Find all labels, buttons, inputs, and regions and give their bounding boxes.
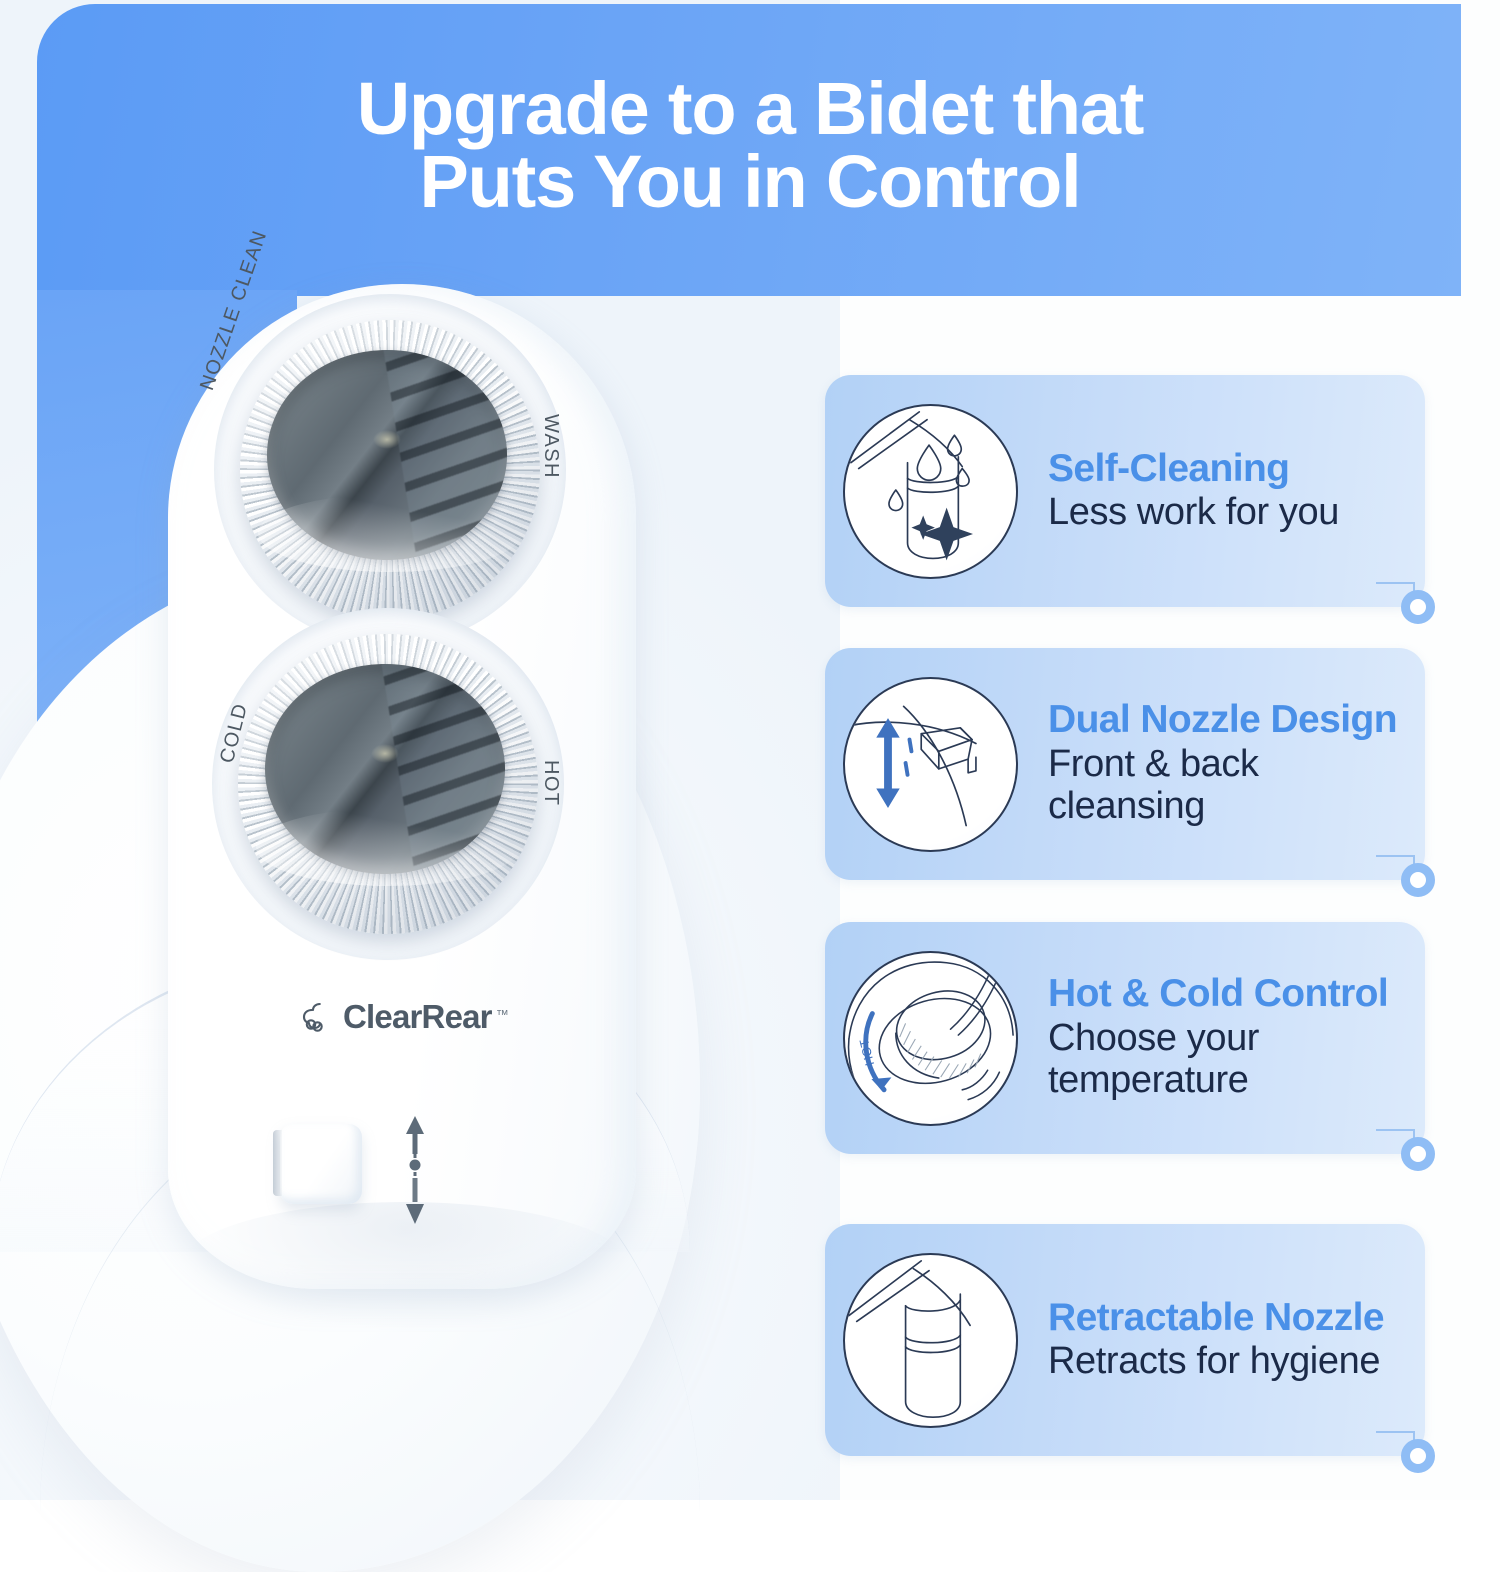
up-down-arrow-icon	[400, 1114, 430, 1226]
card-title: Hot & Cold Control	[1048, 974, 1411, 1014]
knob-chrome-cap	[265, 664, 505, 874]
card-text: Self-Cleaning Less work for you	[1018, 449, 1339, 534]
card-connector-ring	[1401, 1439, 1435, 1473]
marketing-infographic: Upgrade to a Bidet that Puts You in Cont…	[0, 0, 1500, 1500]
knob-label-hot: HOT	[539, 760, 562, 806]
dual-nozzle-double-arrow-icon	[843, 677, 1018, 852]
brand-name: ClearRear	[343, 998, 492, 1036]
feature-card-dual-nozzle[interactable]: Dual Nozzle Design Front & back cleansin…	[825, 648, 1425, 880]
card-title: Self-Cleaning	[1048, 449, 1339, 489]
card-description: Retracts for hygiene	[1048, 1340, 1384, 1383]
rotating-dial-hot-icon: HOT	[843, 951, 1018, 1126]
retracting-nozzle-icon	[843, 1253, 1018, 1428]
card-connector-ring	[1401, 863, 1435, 897]
card-description: Less work for you	[1048, 491, 1339, 534]
bidet-product-photo: NOZZLE CLEAN WASH COLD HOT ClearRear ™	[0, 262, 800, 1500]
brand-logo: ClearRear ™	[300, 997, 509, 1037]
knob-chrome-cap	[267, 350, 507, 560]
svg-text:HOT: HOT	[857, 1037, 877, 1067]
card-description: Front & back cleansing	[1048, 743, 1411, 828]
feature-card-hot-cold-control[interactable]: HOT Hot & Cold Control Choose your tempe…	[825, 922, 1425, 1154]
knob-label-wash: WASH	[539, 414, 562, 479]
brand-trademark: ™	[496, 1007, 509, 1022]
nozzle-water-droplets-sparkle-icon	[843, 404, 1018, 579]
card-text: Hot & Cold Control Choose your temperatu…	[1018, 974, 1411, 1101]
feature-card-retractable-nozzle[interactable]: Retractable Nozzle Retracts for hygiene	[825, 1224, 1425, 1456]
nozzle-position-lever[interactable]	[280, 1124, 362, 1204]
card-text: Dual Nozzle Design Front & back cleansin…	[1018, 700, 1411, 827]
card-description: Choose your temperature	[1048, 1017, 1411, 1102]
card-title: Retractable Nozzle	[1048, 1298, 1384, 1338]
feature-card-list: Self-Cleaning Less work for you	[825, 0, 1465, 1500]
feature-card-self-cleaning[interactable]: Self-Cleaning Less work for you	[825, 375, 1425, 607]
temperature-knob[interactable]	[238, 634, 538, 934]
card-title: Dual Nozzle Design	[1048, 700, 1411, 740]
card-connector-ring	[1401, 590, 1435, 624]
card-text: Retractable Nozzle Retracts for hygiene	[1018, 1298, 1384, 1383]
card-connector-ring	[1401, 1137, 1435, 1171]
cloud-paw-logo-icon	[300, 997, 340, 1037]
wash-mode-knob[interactable]	[240, 320, 540, 620]
